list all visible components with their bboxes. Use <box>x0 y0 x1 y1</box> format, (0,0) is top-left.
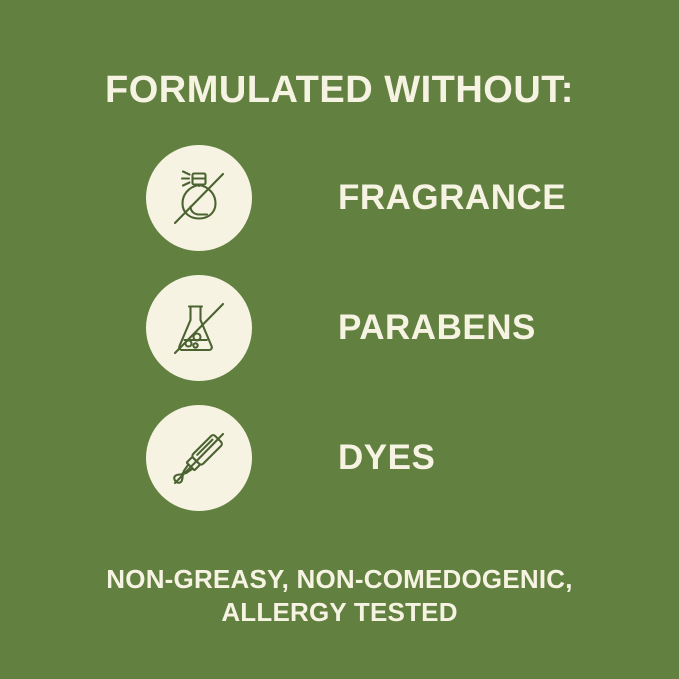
formulated-without-card: FORMULATED WITHOUT: FRAGRANCE <box>0 0 679 679</box>
footer-line-1: NON-GREASY, NON-COMEDOGENIC, <box>0 563 679 596</box>
claim-row: FRAGRANCE <box>146 145 626 251</box>
page-title: FORMULATED WITHOUT: <box>0 68 679 112</box>
claim-label: FRAGRANCE <box>338 178 566 218</box>
no-flask-icon <box>146 275 252 381</box>
claim-row: PARABENS <box>146 275 626 381</box>
claim-label: PARABENS <box>338 308 536 348</box>
no-dropper-icon <box>146 405 252 511</box>
no-fragrance-bottle-icon <box>146 145 252 251</box>
footer-claims: NON-GREASY, NON-COMEDOGENIC, ALLERGY TES… <box>0 563 679 629</box>
claim-label: DYES <box>338 438 435 478</box>
claim-row: DYES <box>146 405 626 511</box>
footer-line-2: ALLERGY TESTED <box>0 596 679 629</box>
